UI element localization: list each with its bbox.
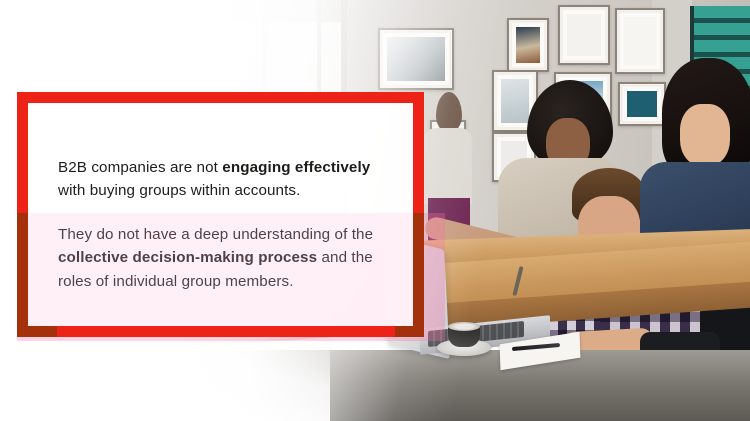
callout-paragraph-1: B2B companies are not engaging effective… [58,156,387,202]
paragraph-1-emphasis: engaging effectively [222,159,370,176]
callout-body-pink-tint [28,213,413,326]
callout-border-left-shaded [17,213,28,337]
slide-canvas: B2B companies are not engaging effective… [0,0,750,421]
callout-border-right-shaded [413,213,424,337]
callout-border-bottom-right-shaded [395,326,424,337]
callout-border-bottom-left-shaded [17,326,57,337]
paragraph-1-segment-1: B2B companies are not [58,159,222,176]
paragraph-1-segment-3: with buying groups within accounts. [58,182,300,199]
